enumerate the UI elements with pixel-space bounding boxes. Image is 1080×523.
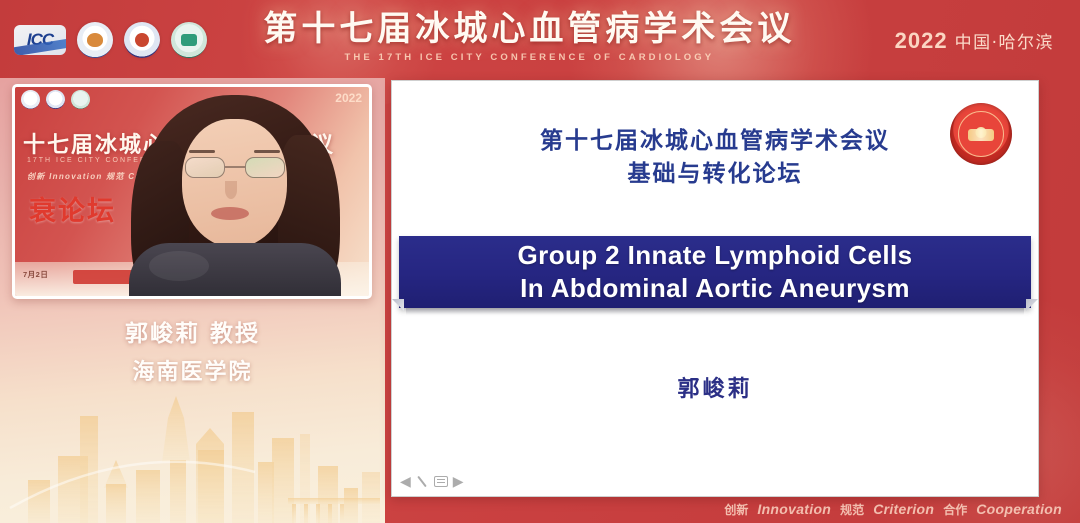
speaker-nose — [225, 181, 237, 199]
header-event-meta: 2022 中国·哈尔滨 — [895, 28, 1054, 54]
next-slide-icon[interactable]: ▶ — [453, 474, 464, 488]
page-subtitle: THE 17TH ICE CITY CONFERENCE OF CARDIOLO… — [263, 52, 795, 63]
slide-menu-icon[interactable] — [434, 476, 448, 487]
slogan-en-1: Innovation — [757, 501, 831, 517]
header-logo-group: ICC — [14, 22, 207, 58]
speaker-panel: 2022 十七届冰城心血管病学术会议 17TH ICE CITY CONFERE… — [0, 78, 385, 523]
slide-presenter-name: 郭峻莉 — [392, 371, 1038, 403]
slogan-cn-1: 创新 — [724, 501, 748, 518]
slide-topic-line2: In Abdominal Aortic Aneurysm — [520, 272, 910, 305]
backdrop-emblem-3-icon — [71, 90, 90, 109]
slide-topic-banner: Group 2 Innate Lymphoid Cells In Abdomin… — [399, 236, 1031, 308]
header-title-block: 第十七届冰城心血管病学术会议 THE 17TH ICE CITY CONFERE… — [263, 12, 795, 63]
slogan-cn-2: 规范 — [840, 501, 864, 518]
slogan-en-3: Cooperation — [976, 501, 1062, 517]
slide-title-line1: 第十七届冰城心血管病学术会议 — [392, 125, 1038, 158]
event-location: 中国·哈尔滨 — [955, 28, 1054, 53]
speaker-name: 郭峻莉 教授 — [0, 314, 385, 348]
slogan-en-2: Criterion — [873, 501, 934, 517]
slide-banner-shadow — [406, 308, 1024, 315]
page-header: ICC 第十七届冰城心血管病学术会议 THE 17TH ICE CITY CON… — [0, 0, 1080, 78]
association-emblem-2-icon — [124, 22, 160, 58]
speaker-figure — [127, 93, 342, 296]
slideshow-navigation-toolbar[interactable]: ◀ ▶ — [400, 474, 464, 488]
slide-banner-wrapper: Group 2 Innate Lymphoid Cells In Abdomin… — [392, 236, 1038, 315]
backdrop-forum-name: 衰论坛 — [29, 189, 116, 228]
speaker-mouth — [211, 207, 249, 220]
speaker-glasses-icon — [185, 157, 285, 179]
slide-title-block: 第十七届冰城心血管病学术会议 基础与转化论坛 — [392, 81, 1038, 192]
page-title: 第十七届冰城心血管病学术会议 — [263, 12, 795, 48]
slogan-cn-3: 合作 — [943, 501, 967, 518]
speaker-organization: 海南医学院 — [0, 354, 385, 386]
speaker-info: 郭峻莉 教授 海南医学院 — [0, 314, 385, 386]
backdrop-emblem-1-icon — [21, 90, 40, 109]
pen-tool-icon[interactable] — [416, 475, 429, 488]
speaker-brow-right — [254, 150, 280, 153]
association-emblem-3-icon — [171, 22, 207, 58]
speaker-shoulder-highlight — [149, 251, 209, 281]
speaker-brow-left — [189, 150, 215, 153]
city-skyline-graphic — [0, 388, 385, 523]
speaker-video-stream: 2022 十七届冰城心血管病学术会议 17TH ICE CITY CONFERE… — [15, 87, 369, 296]
backdrop-date-stamp: 7月2日 — [23, 269, 48, 280]
video-backdrop-logos — [21, 90, 90, 109]
backdrop-emblem-2-icon — [46, 90, 65, 109]
association-emblem-1-icon — [77, 22, 113, 58]
slide-topic-line1: Group 2 Innate Lymphoid Cells — [518, 239, 913, 272]
previous-slide-icon[interactable]: ◀ — [400, 474, 411, 488]
event-year: 2022 — [895, 28, 948, 54]
icc-logo: ICC — [14, 25, 66, 55]
conference-broadcast-screen: ICC 第十七届冰城心血管病学术会议 THE 17TH ICE CITY CON… — [0, 0, 1080, 523]
presentation-slide[interactable]: 第十七届冰城心血管病学术会议 基础与转化论坛 Group 2 Innate Ly… — [391, 80, 1039, 497]
footer-slogan: 创新 Innovation 规范 Criterion 合作 Cooperatio… — [724, 501, 1062, 518]
speaker-video-thumbnail[interactable]: 2022 十七届冰城心血管病学术会议 17TH ICE CITY CONFERE… — [12, 84, 372, 299]
slide-title-line2: 基础与转化论坛 — [392, 158, 1038, 191]
